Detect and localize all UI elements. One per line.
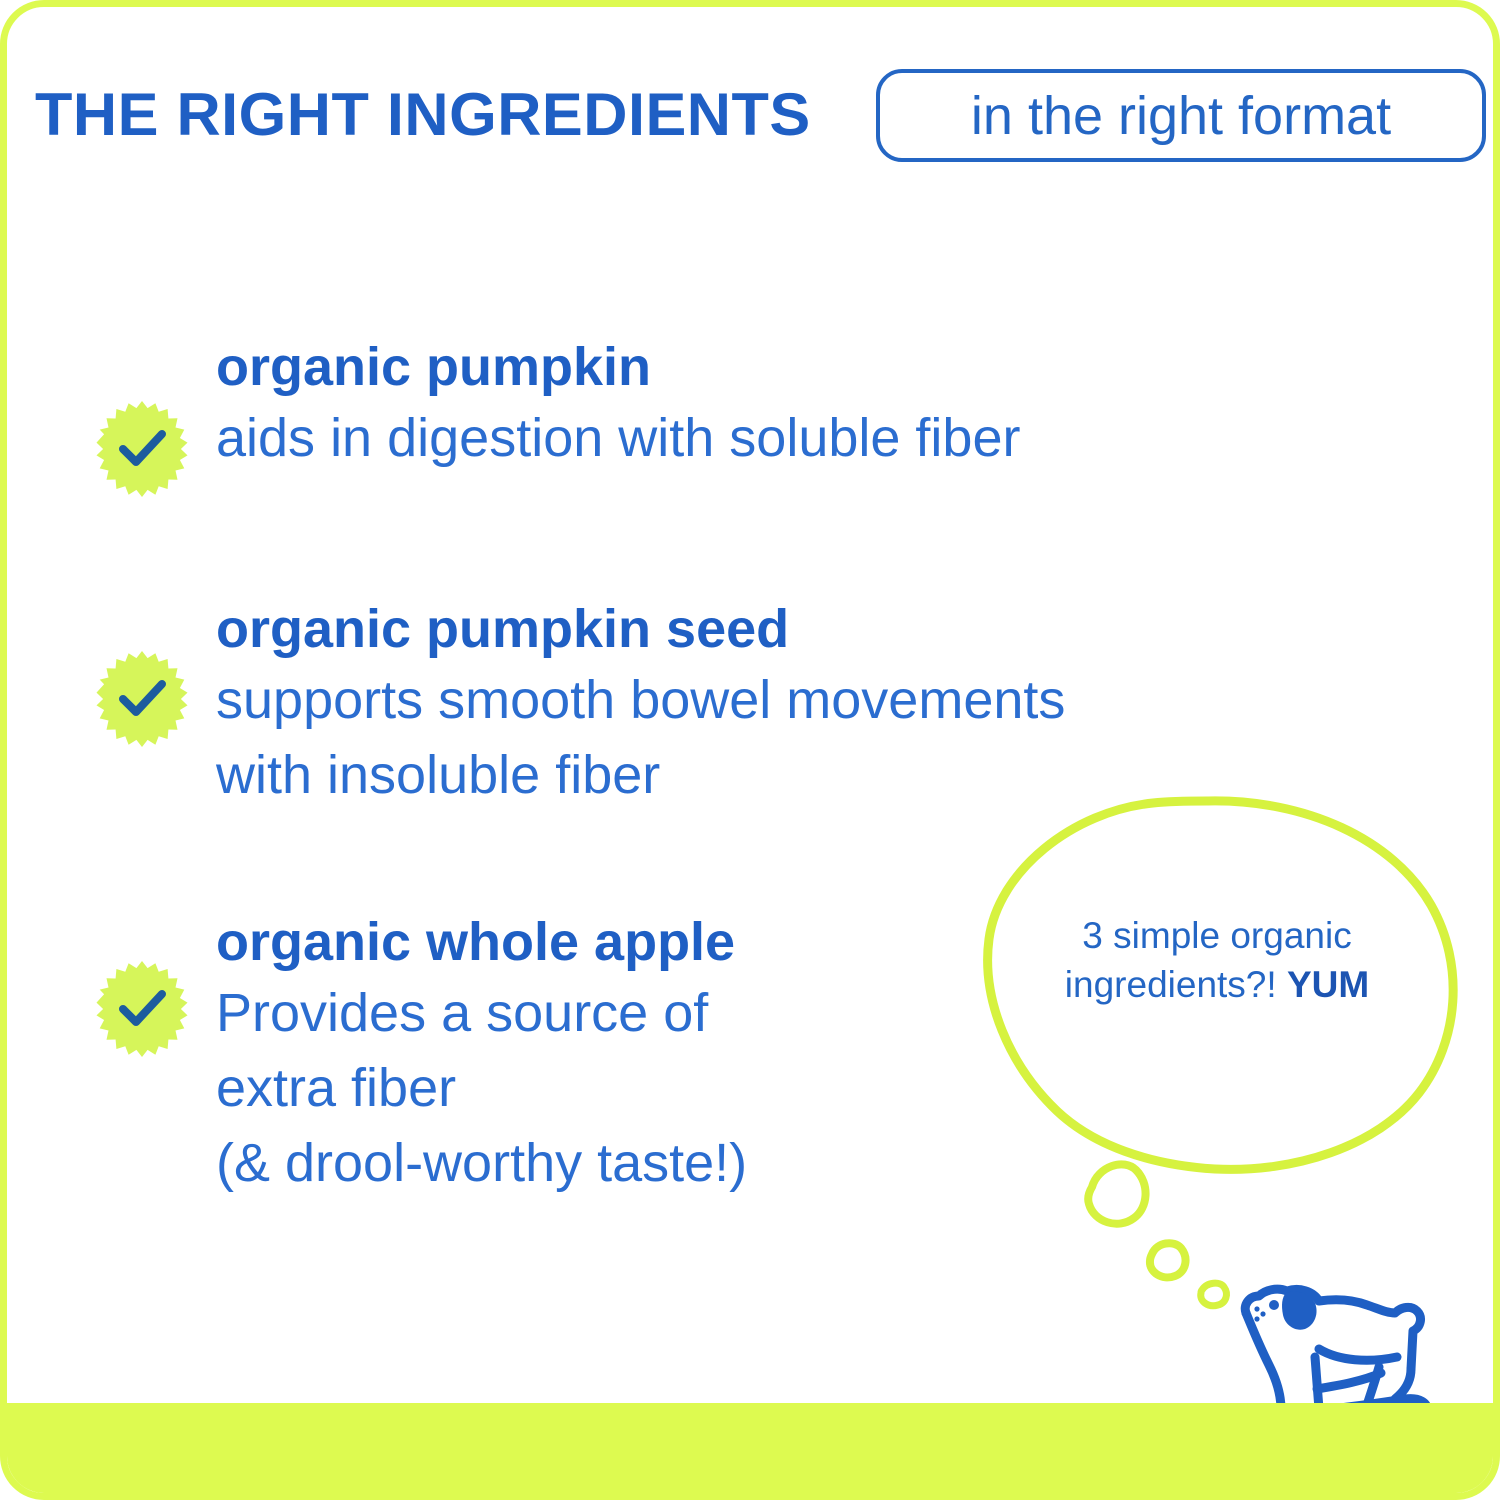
format-badge-label: in the right format — [971, 89, 1391, 143]
ingredient-text: organic pumpkin seed supports smooth bow… — [216, 599, 1336, 813]
header: THE RIGHT INGREDIENTS in the right forma… — [7, 7, 1500, 217]
check-starburst-icon — [92, 399, 192, 499]
ingredient-name: organic pumpkin seed — [216, 599, 1336, 659]
bottom-accent-bar — [0, 1403, 1500, 1500]
page-title: THE RIGHT INGREDIENTS — [35, 85, 811, 145]
ingredient-description: aids in digestion with soluble fiber — [216, 401, 1336, 476]
ingredient-name: organic pumpkin — [216, 337, 1336, 397]
bubble-emphasis: YUM — [1287, 964, 1369, 1005]
ingredient-text: organic pumpkin aids in digestion with s… — [216, 337, 1336, 476]
promo-card: THE RIGHT INGREDIENTS in the right forma… — [0, 0, 1500, 1500]
bubble-line-2: ingredients?! YUM — [1007, 961, 1427, 1010]
bubble-line-2-plain: ingredients?! — [1065, 964, 1287, 1005]
format-badge: in the right format — [876, 69, 1486, 162]
check-starburst-icon — [92, 649, 192, 749]
thought-bubble-text: 3 simple organic ingredients?! YUM — [1007, 912, 1427, 1010]
check-starburst-icon — [92, 959, 192, 1059]
ingredient-description: supports smooth bowel movements with ins… — [216, 663, 1336, 812]
bubble-line-1: 3 simple organic — [1007, 912, 1427, 961]
